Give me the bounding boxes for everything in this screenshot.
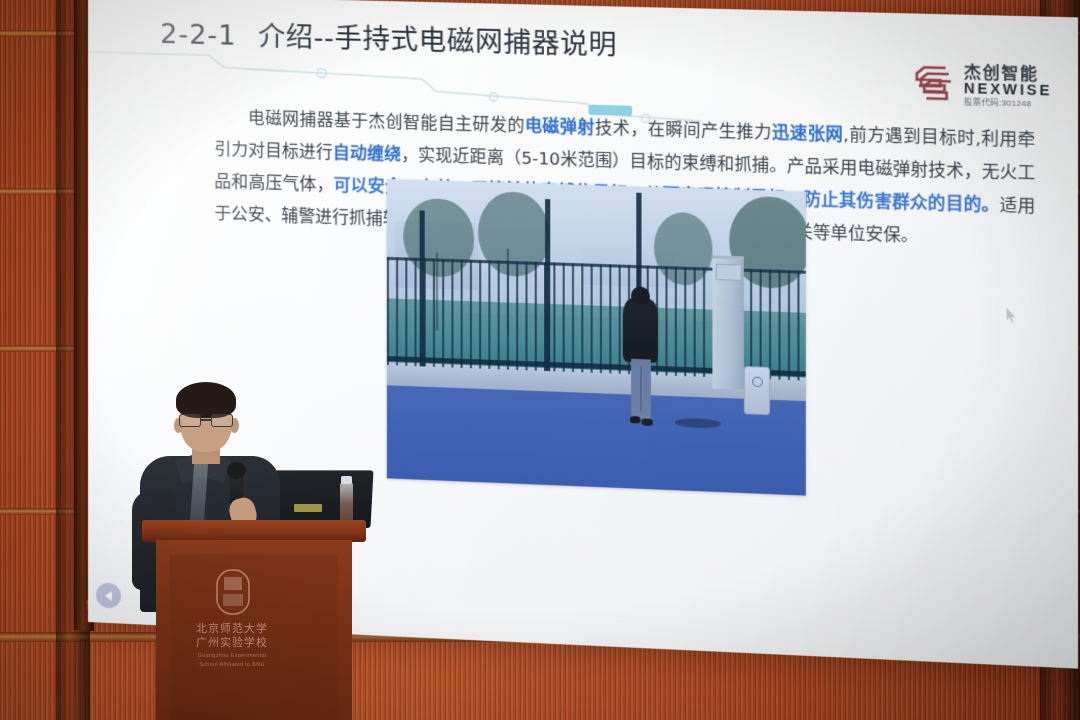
podium-school-en-line1: Guangzhou Experimental: [158, 653, 306, 660]
glasses-lens: [179, 414, 201, 427]
podium-school-cn-line2: 广州实验学校: [158, 636, 306, 650]
slide-title-number: 2-2-1: [160, 19, 237, 52]
podium-school-name: 北京师范大学 广州实验学校 Guangzhou Experimental Sch…: [158, 622, 306, 669]
laptop-badge: [294, 504, 322, 512]
presentation-scene: 2-2-1 介绍--手持式电磁网捕器说明 杰创智能 NEXWISE 股票代码:3…: [0, 0, 1080, 720]
triangle-left-icon: [105, 590, 112, 600]
podium-school-en-line2: School Affiliated to BNU: [158, 662, 306, 669]
presenter-glasses: [179, 414, 235, 427]
presenter-hair: [176, 382, 236, 418]
podium-school-cn-line1: 北京师范大学: [158, 622, 306, 636]
microphone-head: [227, 462, 246, 479]
podium-top: [142, 520, 366, 542]
photo-color-tint: [387, 179, 806, 496]
glasses-bridge: [201, 419, 211, 421]
logo-company-en: NEXWISE: [964, 81, 1052, 99]
nexwise-s-logo-icon: [913, 61, 956, 108]
podium: 北京师范大学 广州实验学校 Guangzhou Experimental Sch…: [148, 520, 360, 720]
body-seg-highlight: 电磁弹射: [525, 116, 595, 137]
body-seg: 技术，在瞬间产生推力: [595, 118, 772, 142]
glasses-lens: [211, 414, 233, 427]
body-seg-highlight: 迅速张网: [772, 123, 843, 145]
school-crest-emblem-icon: [214, 568, 252, 616]
body-seg-highlight: 自动缠绕: [333, 143, 401, 164]
slide-photo: [387, 179, 806, 496]
body-seg: 电磁网捕器基于杰创智能自主研发的: [248, 108, 525, 135]
logo-stock-code: 股票代码:301248: [964, 98, 1052, 109]
company-logo: 杰创智能 NEXWISE 股票代码:301248: [913, 61, 1052, 110]
prev-slide-button[interactable]: [96, 582, 121, 608]
mouse-pointer-icon: [1006, 307, 1018, 324]
